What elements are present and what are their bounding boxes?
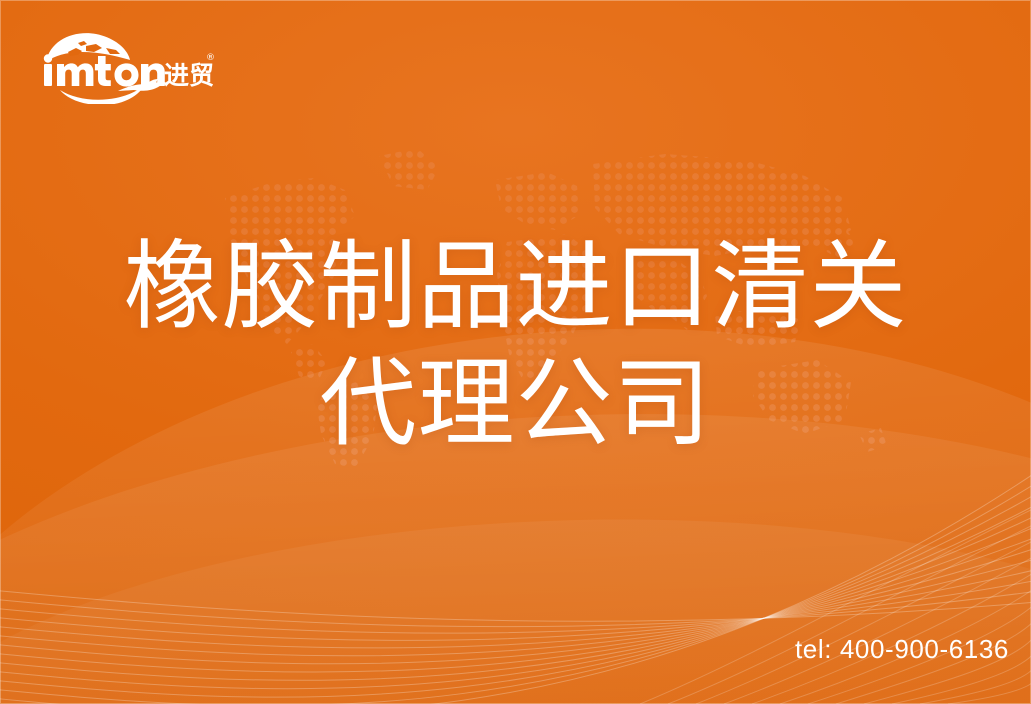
promo-banner: 进贸通 ® 橡胶制品进口清关 代理公司 tel: 400-900-6136 (0, 0, 1031, 704)
svg-text:®: ® (206, 53, 214, 63)
svg-text:进贸通: 进贸通 (164, 61, 214, 90)
headline-line-1: 橡胶制品进口清关 (124, 232, 908, 341)
brand-logo[interactable]: 进贸通 ® (34, 26, 214, 104)
globe-arc-icon (46, 33, 130, 62)
contact-phone[interactable]: tel: 400-900-6136 (795, 634, 1009, 665)
imton-wordmark (44, 54, 165, 86)
headline-line-2: 代理公司 (0, 345, 1031, 462)
page-title: 橡胶制品进口清关 代理公司 (0, 228, 1031, 462)
brand-chinese-chars: 进贸通 ® (164, 53, 214, 90)
